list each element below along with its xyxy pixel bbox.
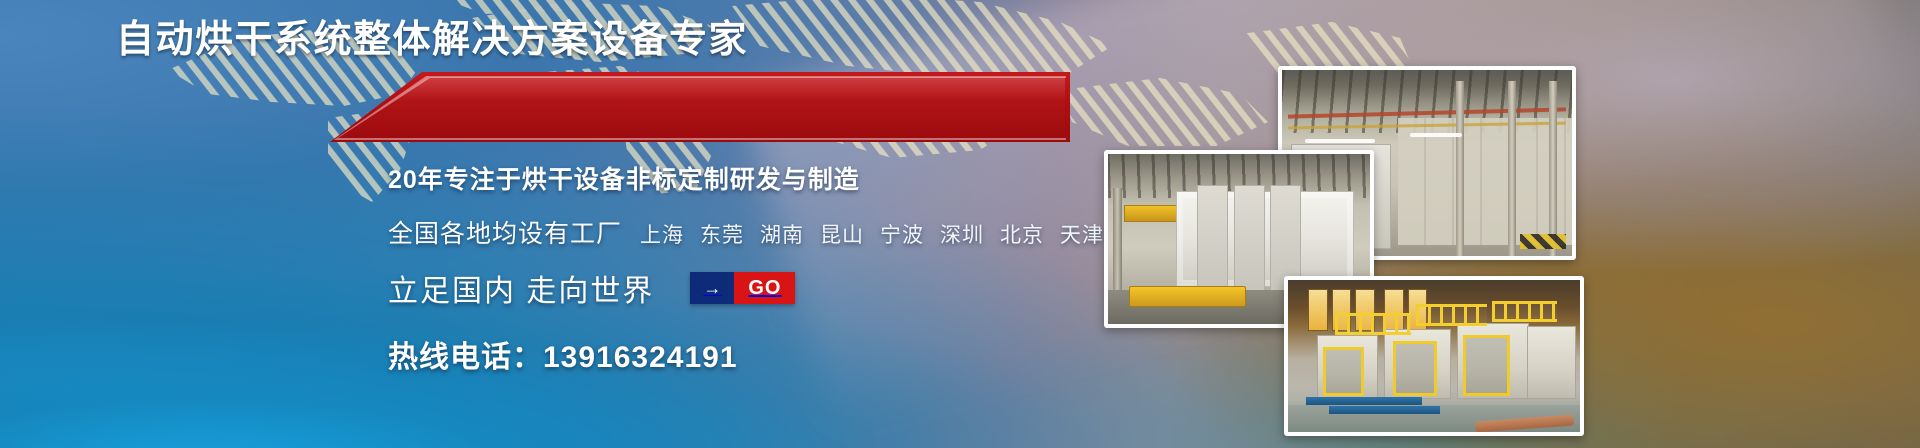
vignette-overlay xyxy=(0,0,1920,448)
promo-banner: 自动烘干系统整体解决方案设备专家 20年专注于烘干设备非标定制研发与制造 全国各… xyxy=(0,0,1920,448)
